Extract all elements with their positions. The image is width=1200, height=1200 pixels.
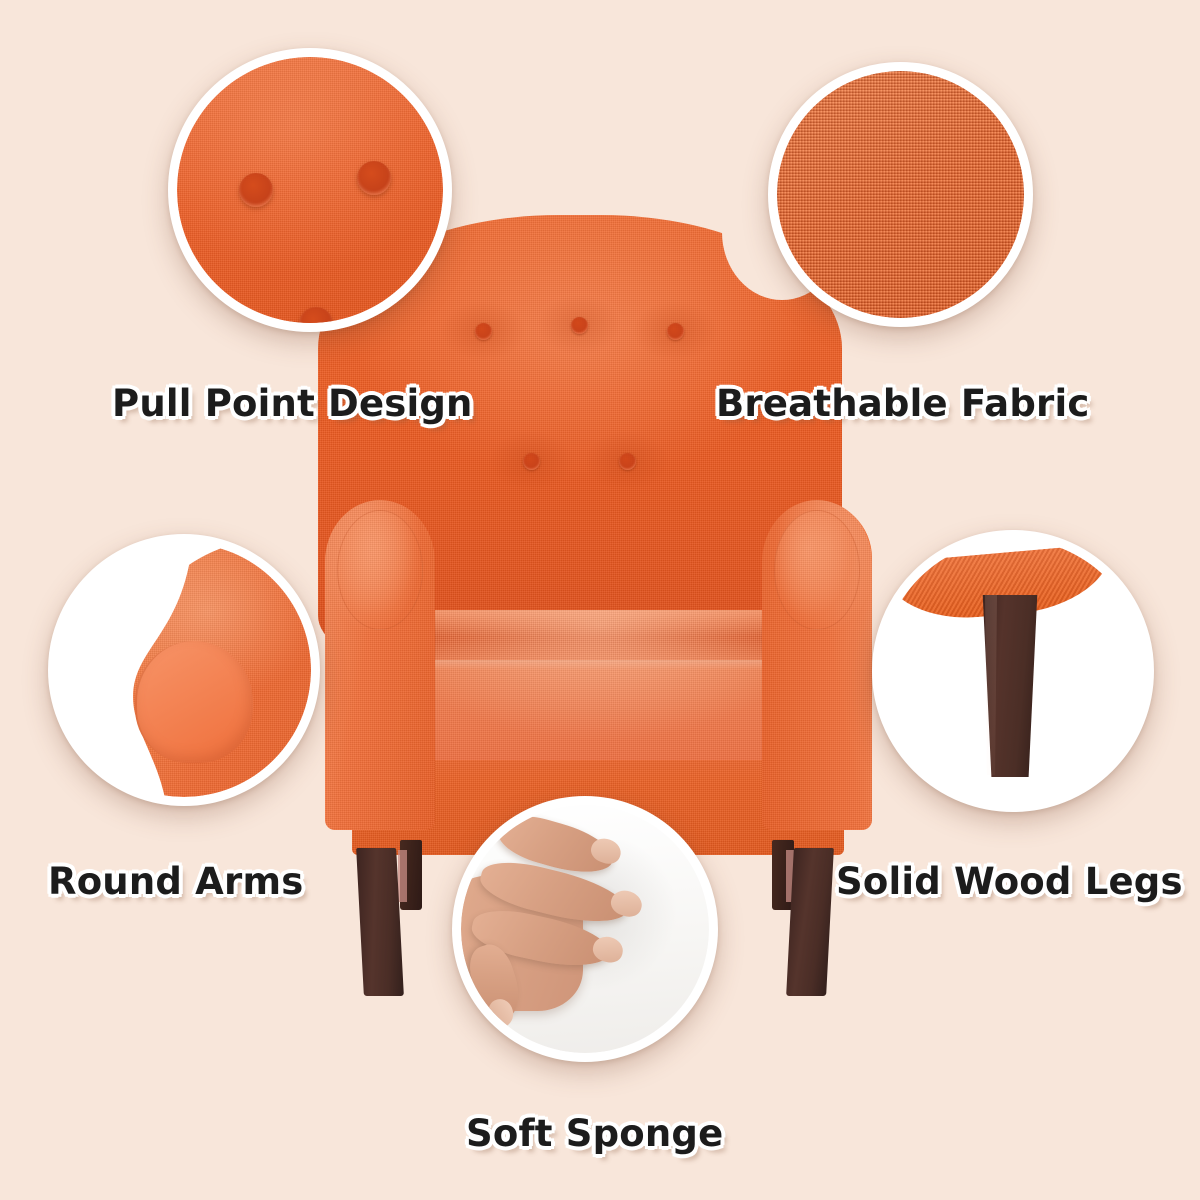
fabric-texture-overlay xyxy=(177,57,443,323)
rolled-arm-icon xyxy=(57,543,311,797)
fabric-texture-overlay xyxy=(410,610,790,760)
tufted-fabric-icon xyxy=(177,57,443,323)
callout-soft-sponge[interactable] xyxy=(452,796,718,1062)
callout-breathable-fabric[interactable] xyxy=(768,62,1033,327)
arm-scroll-detail xyxy=(337,510,423,630)
chair-leg-front-right xyxy=(786,848,834,996)
tuft-button xyxy=(571,317,588,334)
wood-leg-icon xyxy=(881,539,1145,803)
callout-solid-wood-legs[interactable] xyxy=(872,530,1154,812)
tuft-button xyxy=(667,323,684,340)
arm-roll-detail xyxy=(135,641,253,763)
chair-leg-front-left xyxy=(356,848,404,996)
callout-pull-point-design[interactable] xyxy=(168,48,452,332)
foam-hand-icon xyxy=(461,805,709,1053)
label-breathable-fabric: Breathable Fabric xyxy=(716,382,1089,425)
infographic-canvas: Pull Point Design Breathable Fabric Roun… xyxy=(0,0,1200,1200)
wood-leg-highlight xyxy=(985,595,997,775)
tuft-button xyxy=(475,323,492,340)
callout-round-arms[interactable] xyxy=(48,534,320,806)
leg-highlight-left xyxy=(398,850,407,902)
chair-arm-left xyxy=(325,500,435,830)
chair-arm-right xyxy=(762,500,872,830)
label-solid-wood-legs: Solid Wood Legs xyxy=(836,860,1183,903)
woven-fabric-icon xyxy=(777,71,1024,318)
label-soft-sponge: Soft Sponge xyxy=(466,1112,723,1155)
chair-seat-cushion xyxy=(410,610,790,760)
label-pull-point-design: Pull Point Design xyxy=(112,382,473,425)
tuft-button xyxy=(523,453,540,470)
label-round-arms: Round Arms xyxy=(48,860,303,903)
tuft-button xyxy=(619,453,636,470)
arm-scroll-detail xyxy=(774,510,860,630)
